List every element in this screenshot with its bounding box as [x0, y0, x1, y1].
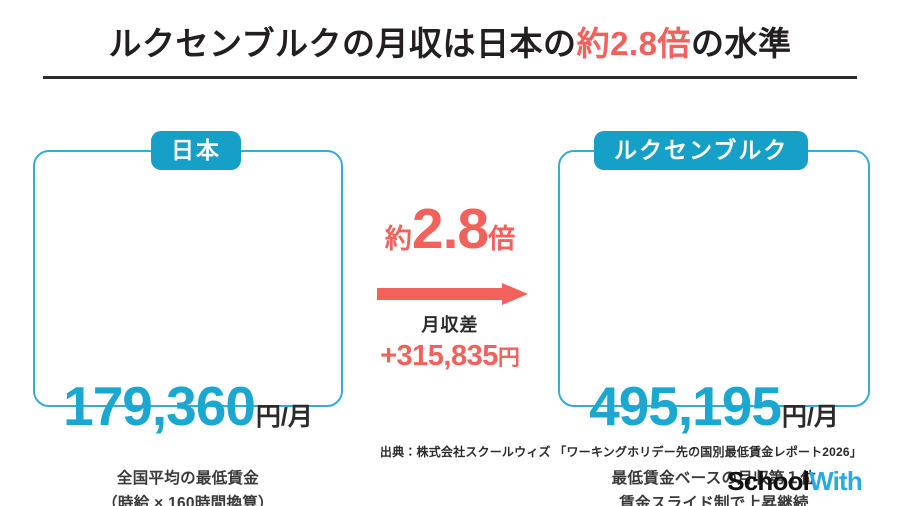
multiplier-suffix: 倍	[488, 224, 515, 254]
difference-unit: 円	[498, 345, 520, 370]
multiplier-value: 2.8	[412, 197, 488, 261]
brand-logo-part1: School	[727, 466, 809, 496]
page-title: ルクセンブルクの月収は日本の約2.8倍の水準	[0, 22, 900, 66]
amount-unit-luxembourg: 円/月	[782, 403, 839, 431]
amount-row-luxembourg: 495,195円/月	[560, 374, 868, 438]
difference-label: 月収差	[345, 311, 555, 337]
difference-number: +315,835	[380, 340, 498, 372]
comparison-card-luxembourg: 495,195円/月 最低賃金ベースの月収第１位 賃金スライド制で上昇継続	[558, 150, 870, 407]
right-arrow-icon	[377, 283, 528, 305]
amount-row-japan: 179,360円/月	[35, 374, 341, 438]
infographic-canvas: ルクセンブルクの月収は日本の約2.8倍の水準 179,360円/月 全国平均の最…	[0, 0, 900, 506]
multiplier-prefix: 約	[385, 224, 412, 254]
brand-logo-part2: With	[809, 466, 862, 496]
title-highlight: 約2.8倍	[577, 25, 691, 62]
source-credit: 出典：株式会社スクールウィズ 「ワーキングホリデー先の国別最低賃金レポート202…	[380, 443, 862, 460]
card-note-japan: 全国平均の最低賃金 （時給 × 160時間換算）	[35, 466, 341, 506]
card-note-line2-japan: （時給 × 160時間換算）	[35, 491, 341, 506]
card-note-line1-japan: 全国平均の最低賃金	[35, 466, 341, 491]
amount-value-luxembourg: 495,195	[589, 375, 781, 437]
title-tail: の水準	[691, 25, 792, 62]
brand-logo: SchoolWith	[727, 466, 862, 496]
difference-value: +315,835円	[345, 340, 555, 373]
multiplier-label: 約2.8倍	[345, 196, 555, 262]
title-divider	[43, 76, 857, 79]
amount-unit-japan: 円/月	[256, 403, 313, 431]
amount-value-japan: 179,360	[63, 375, 255, 437]
card-badge-japan: 日本	[151, 131, 241, 170]
card-badge-luxembourg: ルクセンブルク	[594, 131, 808, 170]
comparison-card-japan: 179,360円/月 全国平均の最低賃金 （時給 × 160時間換算）	[33, 150, 343, 407]
title-lead: ルクセンブルクの月収は日本の	[109, 25, 577, 62]
